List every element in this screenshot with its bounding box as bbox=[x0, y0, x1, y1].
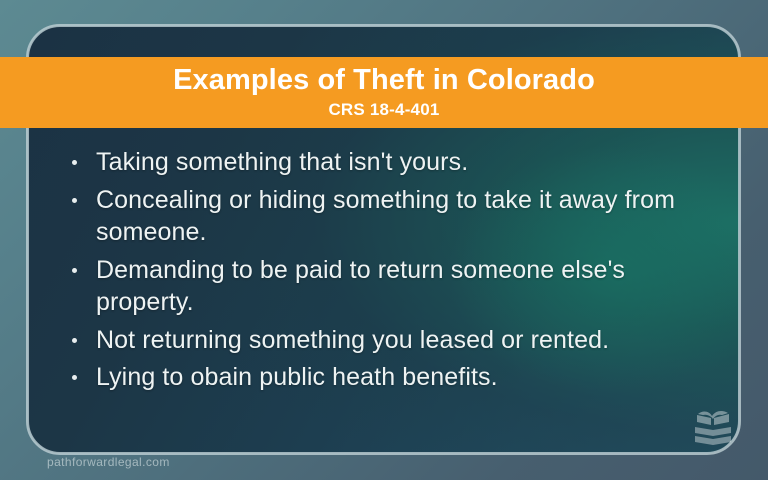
list-item: Concealing or hiding something to take i… bbox=[68, 184, 693, 249]
list-item: Not returning something you leased or re… bbox=[68, 324, 693, 357]
list-item: Demanding to be paid to return someone e… bbox=[68, 254, 693, 319]
page-title: Examples of Theft in Colorado bbox=[153, 65, 615, 95]
theft-examples-list: Taking something that isn't yours. Conce… bbox=[68, 146, 693, 399]
slide-canvas: Examples of Theft in Colorado CRS 18-4-4… bbox=[0, 0, 768, 480]
page-subtitle: CRS 18-4-401 bbox=[328, 101, 439, 120]
stacked-books-logo-icon bbox=[691, 405, 735, 447]
title-band: Examples of Theft in Colorado CRS 18-4-4… bbox=[0, 57, 768, 128]
list-item: Lying to obain public heath benefits. bbox=[68, 361, 693, 394]
list-item: Taking something that isn't yours. bbox=[68, 146, 693, 179]
website-url: pathforwardlegal.com bbox=[47, 455, 170, 469]
